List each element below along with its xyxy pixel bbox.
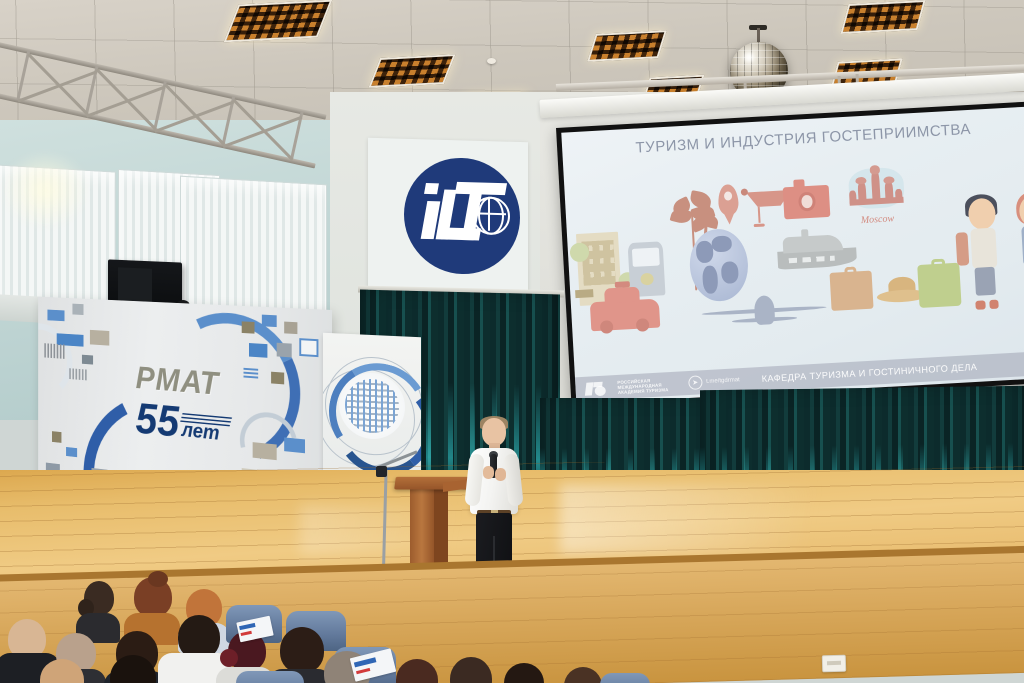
academy-logo-icon <box>585 380 610 396</box>
slide-title: ТУРИЗМ И ИНДУСТРИЯ ГОСТЕПРИИМСТВА <box>585 118 1021 159</box>
floor-reflection <box>560 484 920 554</box>
ceiling-light-fixture <box>840 0 925 34</box>
telegram-icon: ➤ <box>688 375 703 390</box>
audience-person <box>440 657 500 683</box>
telegram-handle: t.me/tgdrmat <box>706 377 740 385</box>
department-name: КАФЕДРА ТУРИЗМА И ГОСТИНИЧНОГО ДЕЛА <box>761 362 977 384</box>
audience-seat <box>236 671 304 683</box>
speaker-head <box>482 418 506 446</box>
banner-text-group: РМАТ 55 лет <box>136 360 286 452</box>
slide-illustration-group: Moscow <box>564 161 1024 344</box>
audience-area <box>0 575 1024 683</box>
smoke-detector-icon <box>487 58 496 64</box>
audience-person <box>494 663 550 683</box>
podium-side <box>434 488 448 570</box>
ceiling-light-fixture <box>224 0 333 42</box>
globe-icon <box>688 227 750 303</box>
backpacker-boy-icon <box>960 197 1008 310</box>
suitcase-icon <box>829 271 873 311</box>
audience-person <box>96 655 166 683</box>
photo-camera-icon <box>783 185 831 219</box>
speaker-person <box>465 418 523 578</box>
conference-hall-photo: ТУРИЗМ И ИНДУСТРИЯ ГОСТЕПРИИМСТВА <box>0 0 1024 683</box>
microphone-clip <box>376 466 387 477</box>
academy-name: РОССИЙСКАЯ МЕЖДУНАРОДНАЯ АКАДЕМИЯ ТУРИЗМ… <box>617 377 668 395</box>
audience-person <box>26 659 92 683</box>
banner-anniversary-number: 55 <box>136 398 179 442</box>
cruise-ship-icon <box>776 225 857 270</box>
backpacker-girl-icon <box>1011 194 1024 307</box>
moscow-label: Moscow <box>847 213 907 227</box>
airplane-icon <box>701 292 828 327</box>
rolling-luggage-icon <box>917 263 961 308</box>
cocktail-glass-icon <box>746 191 771 227</box>
projector-screen-frame: ТУРИЗМ И ИНДУСТРИЯ ГОСТЕПРИИМСТВА <box>556 102 1024 410</box>
location-pin-icon <box>718 184 739 217</box>
ceiling-light-fixture <box>368 54 455 88</box>
telegram-handle-group: ➤ t.me/tgdrmat <box>688 373 740 390</box>
ceiling-light-fixture <box>587 30 667 62</box>
projector-screen-surface: ТУРИЗМ И ИНДУСТРИЯ ГОСТЕПРИИМСТВА <box>561 107 1024 404</box>
podium-column <box>410 489 436 571</box>
mirror-ball-highlight <box>741 52 757 63</box>
saint-basil-cathedral-icon: Moscow <box>842 165 910 222</box>
audience-seat <box>600 673 650 683</box>
it-monogram-icon <box>420 179 506 243</box>
taxi-car-icon <box>589 299 660 331</box>
